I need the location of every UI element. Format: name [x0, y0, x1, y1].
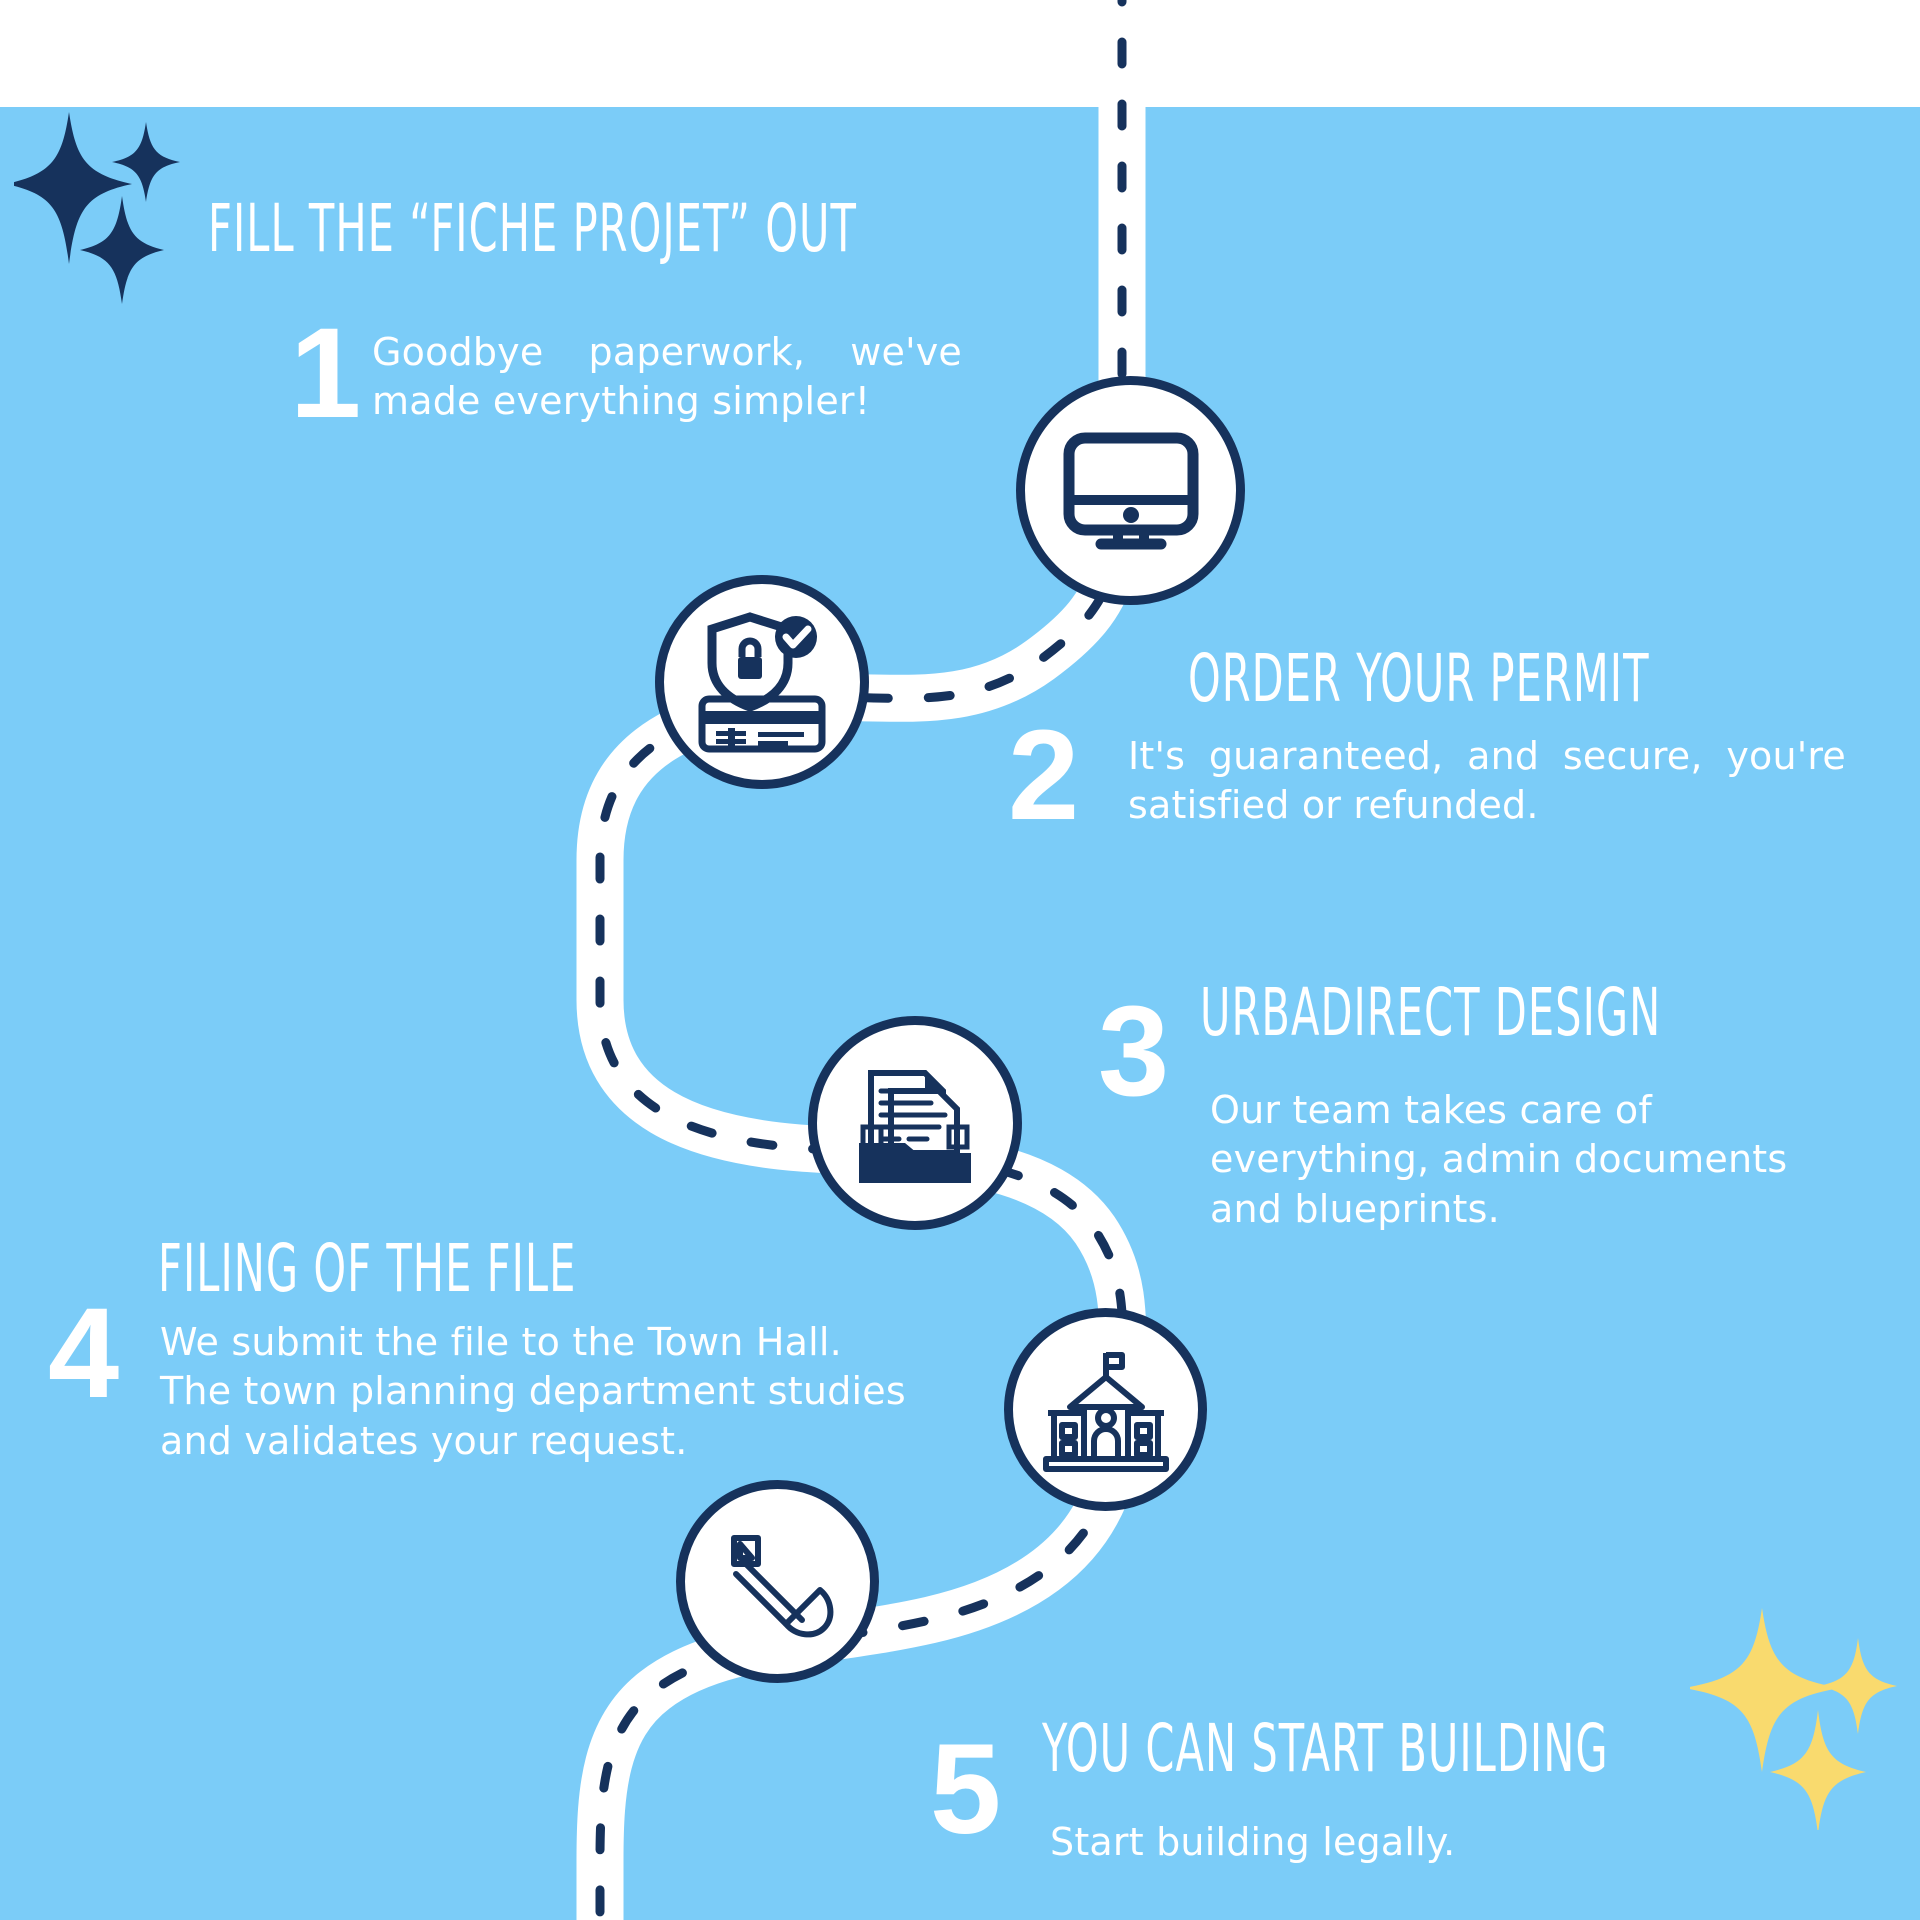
step-2-body: It's guaranteed, and secure, you're sati…	[1128, 732, 1846, 831]
step-1: FILL THE “FICHE PROJET” OUT	[208, 198, 1108, 261]
step-3-number: 3	[1098, 988, 1169, 1116]
step-1-icon-bubble	[1016, 376, 1245, 605]
step-4: FILING OF THE FILE	[158, 1238, 1058, 1301]
navy-sparkle-cluster	[14, 104, 204, 304]
step-5-heading: YOU CAN START BUILDING	[1042, 1718, 1812, 1781]
step-1-heading: FILL THE “FICHE PROJET” OUT	[208, 198, 1104, 261]
step-3-icon-bubble	[808, 1016, 1022, 1230]
step-2-icon-bubble	[655, 575, 869, 789]
step-2: ORDER YOUR PERMIT	[1188, 648, 1920, 711]
step-5: YOU CAN START BUILDING	[1042, 1718, 1920, 1781]
road-path	[0, 0, 1920, 1920]
step-3-heading: URBADIRECT DESIGN	[1200, 982, 1900, 1045]
document-folder-icon	[847, 1055, 983, 1191]
step-5-number: 5	[930, 1726, 1001, 1854]
step-2-number: 2	[1008, 712, 1079, 840]
step-4-icon-bubble	[1004, 1308, 1207, 1511]
step-2-heading: ORDER YOUR PERMIT	[1188, 648, 1888, 711]
step-4-number: 4	[48, 1290, 119, 1418]
secure-payment-card-icon	[692, 611, 832, 753]
step-5-body: Start building legally.	[1050, 1818, 1710, 1867]
shovel-icon	[714, 1518, 842, 1646]
step-3: URBADIRECT DESIGN	[1200, 982, 1920, 1045]
step-4-heading: FILING OF THE FILE	[158, 1238, 788, 1301]
step-1-number: 1	[290, 310, 361, 438]
step-1-body: Goodbye paperwork, we've made everything…	[372, 328, 962, 427]
monitor-icon	[1063, 432, 1199, 550]
step-4-body: We submit the file to the Town Hall. The…	[160, 1318, 920, 1466]
step-3-body: Our team takes care of everything, admin…	[1210, 1086, 1790, 1234]
town-hall-icon	[1038, 1347, 1174, 1473]
step-5-icon-bubble	[676, 1480, 879, 1683]
infographic-canvas: FILL THE “FICHE PROJET” OUT 1 Goodbye pa…	[0, 0, 1920, 1920]
yellow-sparkle-cluster	[1690, 1600, 1920, 1830]
